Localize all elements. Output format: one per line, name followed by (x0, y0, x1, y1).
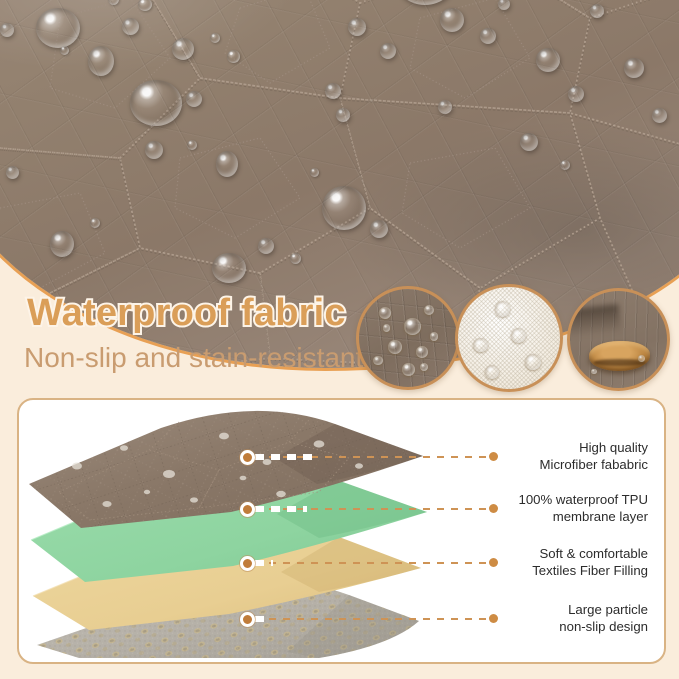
connector-line-nonslip (255, 618, 491, 620)
infographic-root: Waterproof fabric Non-slip and stain-res… (0, 0, 679, 679)
connector-dot-fabric (489, 452, 498, 461)
connector-dash (255, 618, 491, 620)
connector-line-fabric (255, 456, 491, 458)
label-filling: Soft & comfortable Textiles Fiber Fillin… (532, 546, 648, 579)
layer-marker-filling (240, 556, 255, 571)
label-tpu: 100% waterproof TPU membrane layer (519, 492, 649, 525)
connector-dot-filling (489, 558, 498, 567)
layer-marker-tpu (240, 502, 255, 517)
label-filling-line2: Textiles Fiber Filling (532, 563, 648, 580)
inset-spill-resistance (567, 288, 670, 391)
label-tpu-line2: membrane layer (519, 509, 649, 526)
label-nonslip-line2: non-slip design (559, 619, 648, 636)
label-nonslip: Large particle non-slip design (559, 602, 648, 635)
fold-shadow (567, 304, 622, 339)
connector-white-dash (255, 506, 307, 512)
label-fabric: High quality Microfiber fababric (540, 440, 648, 473)
connector-white-dash (255, 560, 273, 566)
connector-white-dash (255, 454, 319, 460)
mesh-texture (458, 287, 560, 389)
label-nonslip-line1: Large particle (559, 602, 648, 619)
connector-dot-nonslip (489, 614, 498, 623)
connector-line-filling (255, 562, 491, 564)
connector-dash (255, 562, 491, 564)
feature-inset-photos (0, 0, 679, 400)
label-filling-line1: Soft & comfortable (532, 546, 648, 563)
connector-dot-tpu (489, 504, 498, 513)
label-fabric-line2: Microfiber fababric (540, 457, 648, 474)
inset-water-beading-on-mesh (455, 284, 563, 392)
label-fabric-line1: High quality (540, 440, 648, 457)
connector-white-dash (255, 616, 269, 622)
layer-marker-fabric (240, 450, 255, 465)
layer-marker-nonslip (240, 612, 255, 627)
inset-water-beading-on-fabric (356, 286, 460, 390)
connector-line-tpu (255, 508, 491, 510)
label-tpu-line1: 100% waterproof TPU (519, 492, 649, 509)
